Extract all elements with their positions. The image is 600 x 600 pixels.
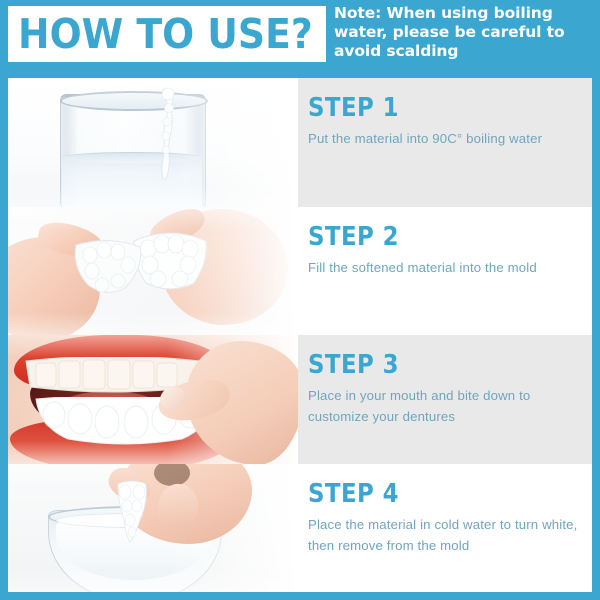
step-3-title: STEP 3 — [308, 352, 549, 378]
step-row-1: STEP 1 Put the material into 90C° boilin… — [8, 78, 592, 207]
safety-note: Note: When using boiling water, please b… — [334, 4, 594, 62]
step-row-2: STEP 2 Fill the softened material into t… — [8, 207, 592, 336]
step-3-description: Place in your mouth and bite down to cus… — [308, 385, 582, 428]
steps-frame: STEP 1 Put the material into 90C° boilin… — [8, 78, 592, 592]
step-1-photo — [8, 78, 298, 207]
step-4-photo — [8, 464, 298, 593]
step-2-title: STEP 2 — [308, 224, 549, 250]
step-2-description: Fill the softened material into the mold — [308, 257, 582, 278]
step-4-text: STEP 4 Place the material in cold water … — [300, 464, 592, 593]
step-1-text: STEP 1 Put the material into 90C° boilin… — [300, 78, 592, 207]
denture-mold-icon — [112, 480, 152, 544]
page-title: HOW TO USE? — [18, 14, 313, 55]
header-banner: HOW TO USE? Note: When using boiling wat… — [0, 0, 600, 74]
step-4-description: Place the material in cold water to turn… — [308, 514, 582, 557]
step-row-3: STEP 3 Place in your mouth and bite down… — [8, 335, 592, 464]
step-2-text: STEP 2 Fill the softened material into t… — [300, 207, 592, 336]
step-3-text: STEP 3 Place in your mouth and bite down… — [300, 335, 592, 464]
title-box: HOW TO USE? — [8, 6, 326, 62]
step-1-title: STEP 1 — [308, 95, 549, 121]
step-1-description: Put the material into 90C° boiling water — [308, 128, 582, 149]
step-row-4: STEP 4 Place the material in cold water … — [8, 464, 592, 593]
how-to-use-infographic: HOW TO USE? Note: When using boiling wat… — [0, 0, 600, 600]
step-3-photo — [8, 335, 298, 464]
step-2-photo — [8, 207, 298, 336]
step-4-title: STEP 4 — [308, 481, 549, 507]
